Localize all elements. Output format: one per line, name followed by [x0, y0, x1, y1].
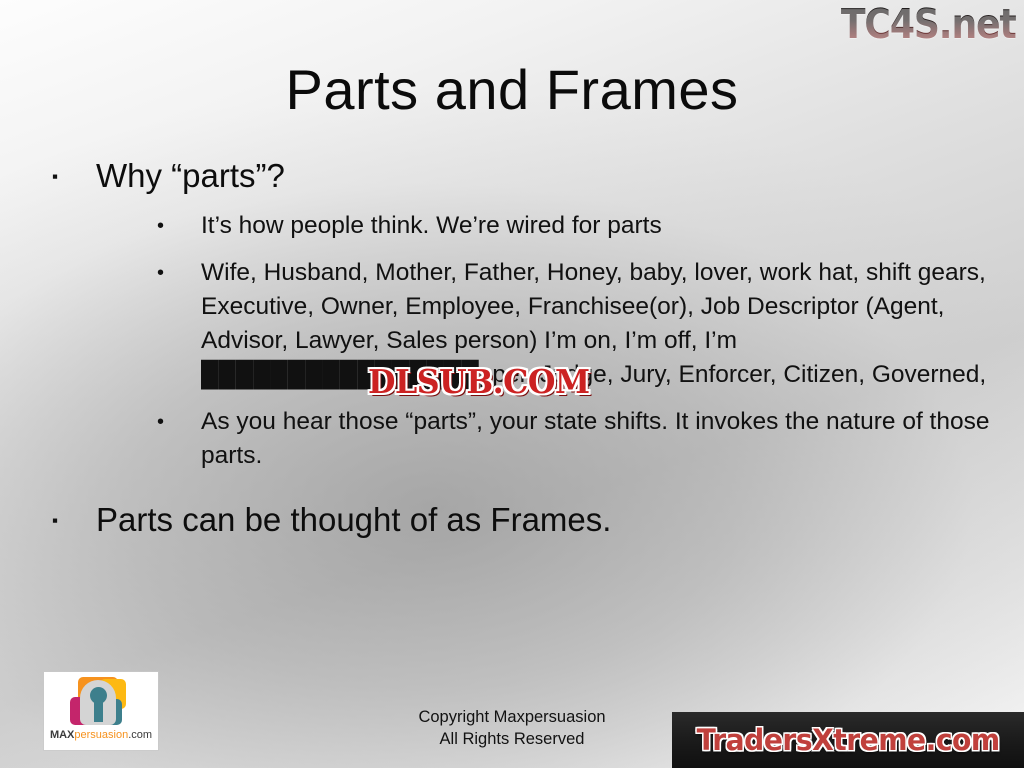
tc4s-logo: TC4S.net — [841, 2, 1016, 46]
square-bullet-icon: ▪ — [44, 155, 96, 199]
sub-bullet-group: • It’s how people think. We’re wired for… — [44, 209, 994, 473]
bullet-level2-how-people-think: • It’s how people think. We’re wired for… — [44, 209, 994, 243]
bullet-level2-label: Wife, Husband, Mother, Father, Honey, ba… — [201, 256, 991, 392]
round-bullet-icon: • — [44, 405, 201, 439]
bullet-level2-parts-list: • Wife, Husband, Mother, Father, Honey, … — [44, 256, 994, 392]
round-bullet-icon: • — [44, 256, 201, 290]
page-title: Parts and Frames — [0, 58, 1024, 122]
wordmark-persuasion: persuasion — [74, 729, 128, 741]
logo-keyhole-stem — [94, 700, 103, 722]
bullet-level2-label: As you hear those “parts”, your state sh… — [201, 405, 991, 473]
bullet-level1-label: Parts can be thought of as Frames. — [96, 499, 994, 540]
maxpersuasion-wordmark: MAXpersuasion.com — [44, 729, 158, 742]
bullet-level1-parts-as-frames: ▪ Parts can be thought of as Frames. — [44, 499, 994, 543]
wordmark-com: .com — [128, 729, 152, 741]
bullet-level2-label: It’s how people think. We’re wired for p… — [201, 209, 991, 243]
maxpersuasion-logo: MAXpersuasion.com — [44, 672, 158, 750]
tradersxtreme-logo: TradersXtreme.com — [672, 712, 1024, 768]
bullet-level1-label: Why “parts”? — [96, 155, 994, 196]
slide-body: ▪ Why “parts”? • It’s how people think. … — [44, 155, 994, 553]
slide-canvas: TC4S.net Parts and Frames ▪ Why “parts”?… — [0, 0, 1024, 768]
square-bullet-icon: ▪ — [44, 499, 96, 543]
maxpersuasion-keyhole-icon — [70, 677, 128, 727]
bullet-level2-state-shifts: • As you hear those “parts”, your state … — [44, 405, 994, 473]
tradersxtreme-label: TradersXtreme.com — [696, 724, 999, 756]
bullet-level1-why-parts: ▪ Why “parts”? — [44, 155, 994, 199]
round-bullet-icon: • — [44, 209, 201, 243]
wordmark-max: MAX — [50, 729, 74, 741]
